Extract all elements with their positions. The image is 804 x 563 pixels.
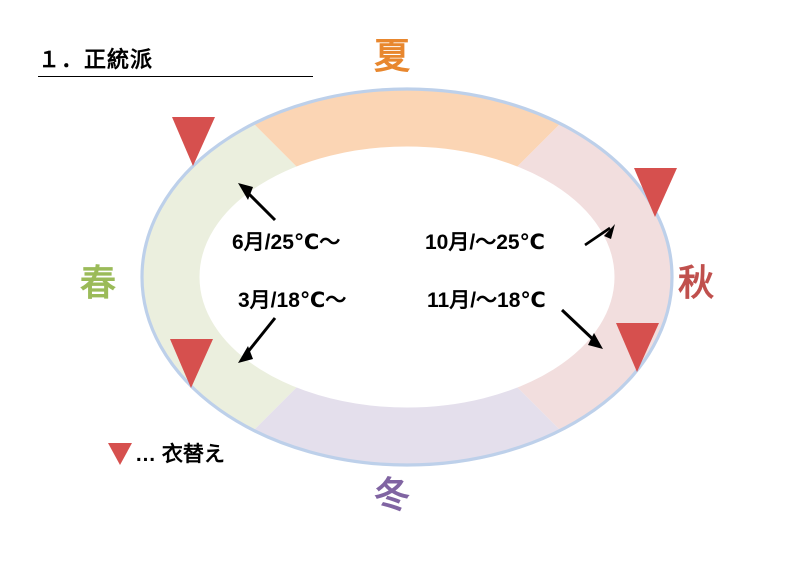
annotation-to-winter: 11月/～18℃ <box>427 284 546 314</box>
season-label-spring: 春 <box>80 265 116 301</box>
legend-label: … 衣替え <box>135 444 225 465</box>
legend-triangle-icon <box>108 443 132 465</box>
season-label-autumn: 秋 <box>678 265 714 301</box>
legend: … 衣替え <box>108 443 225 465</box>
annotation-to-summer: 6月/25℃～ <box>232 226 340 256</box>
annotation-to-autumn: 10月/～25℃ <box>425 226 545 256</box>
season-label-winter: 冬 <box>374 477 410 513</box>
slide-canvas: １．正統派 <box>0 0 804 563</box>
annotation-to-spring: 3月/18℃～ <box>238 284 346 314</box>
season-label-summer: 夏 <box>374 38 410 74</box>
